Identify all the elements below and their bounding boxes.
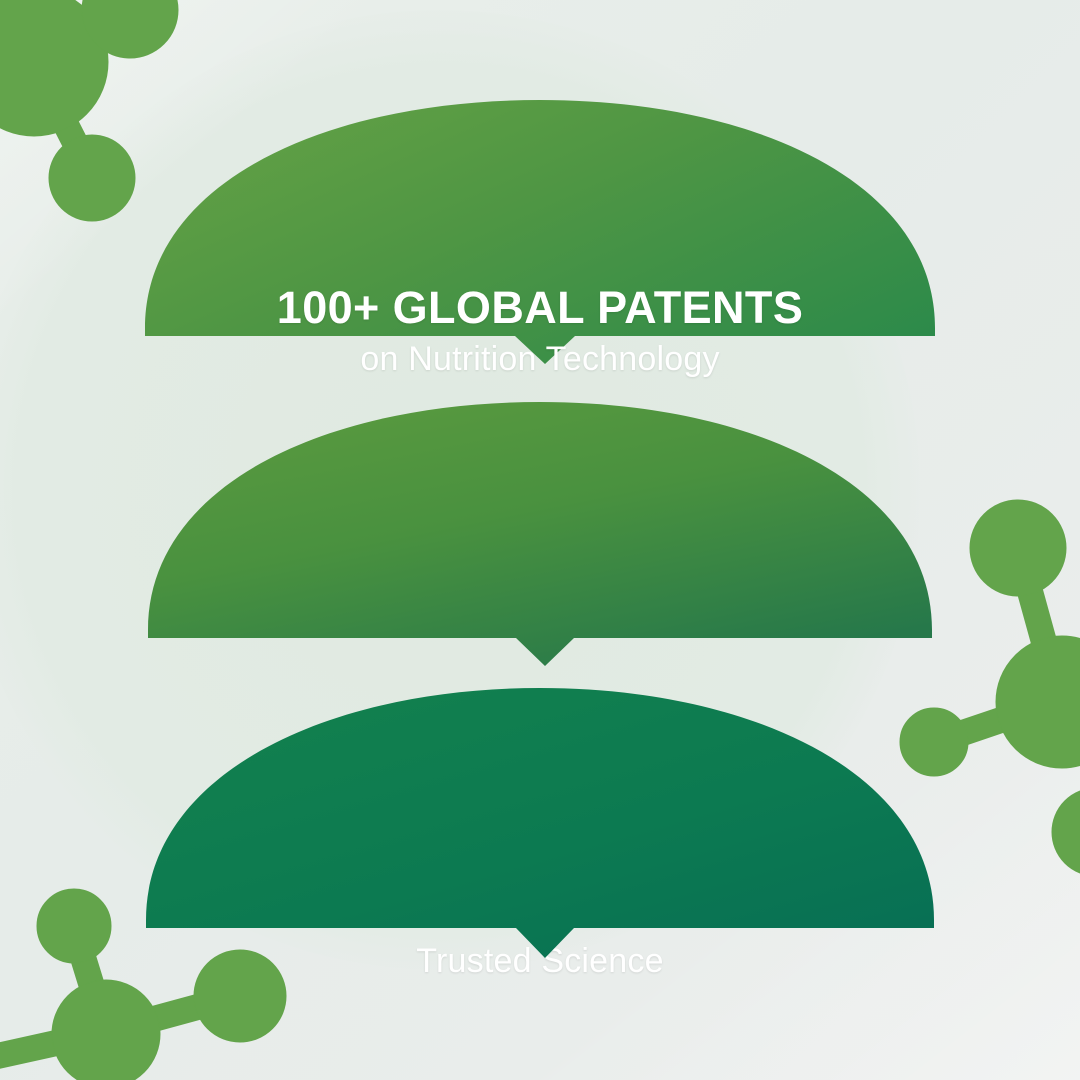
banner-university-partners[interactable]: 18 PRESTIGIOUS UNIVERSITY Research Partn… — [0, 682, 1080, 960]
banner-stack: 100+ GLOBAL PATENTS on Nutrition Technol… — [0, 0, 1080, 1080]
banner-patents-text: 100+ GLOBAL PATENTS on Nutrition Technol… — [0, 284, 1080, 379]
banner-clinical-trials[interactable]: 32 CLINICAL TRIALS Trusted Science — [0, 396, 1080, 668]
banner-patents-headline: 100+ GLOBAL PATENTS — [0, 284, 1080, 333]
banner-patents[interactable]: 100+ GLOBAL PATENTS on Nutrition Technol… — [0, 96, 1080, 368]
banner-patents-subline: on Nutrition Technology — [0, 339, 1080, 379]
banner-university-partners-shape — [0, 682, 1080, 960]
infographic-canvas: 100+ GLOBAL PATENTS on Nutrition Technol… — [0, 0, 1080, 1080]
banner-clinical-trials-shape — [0, 396, 1080, 668]
